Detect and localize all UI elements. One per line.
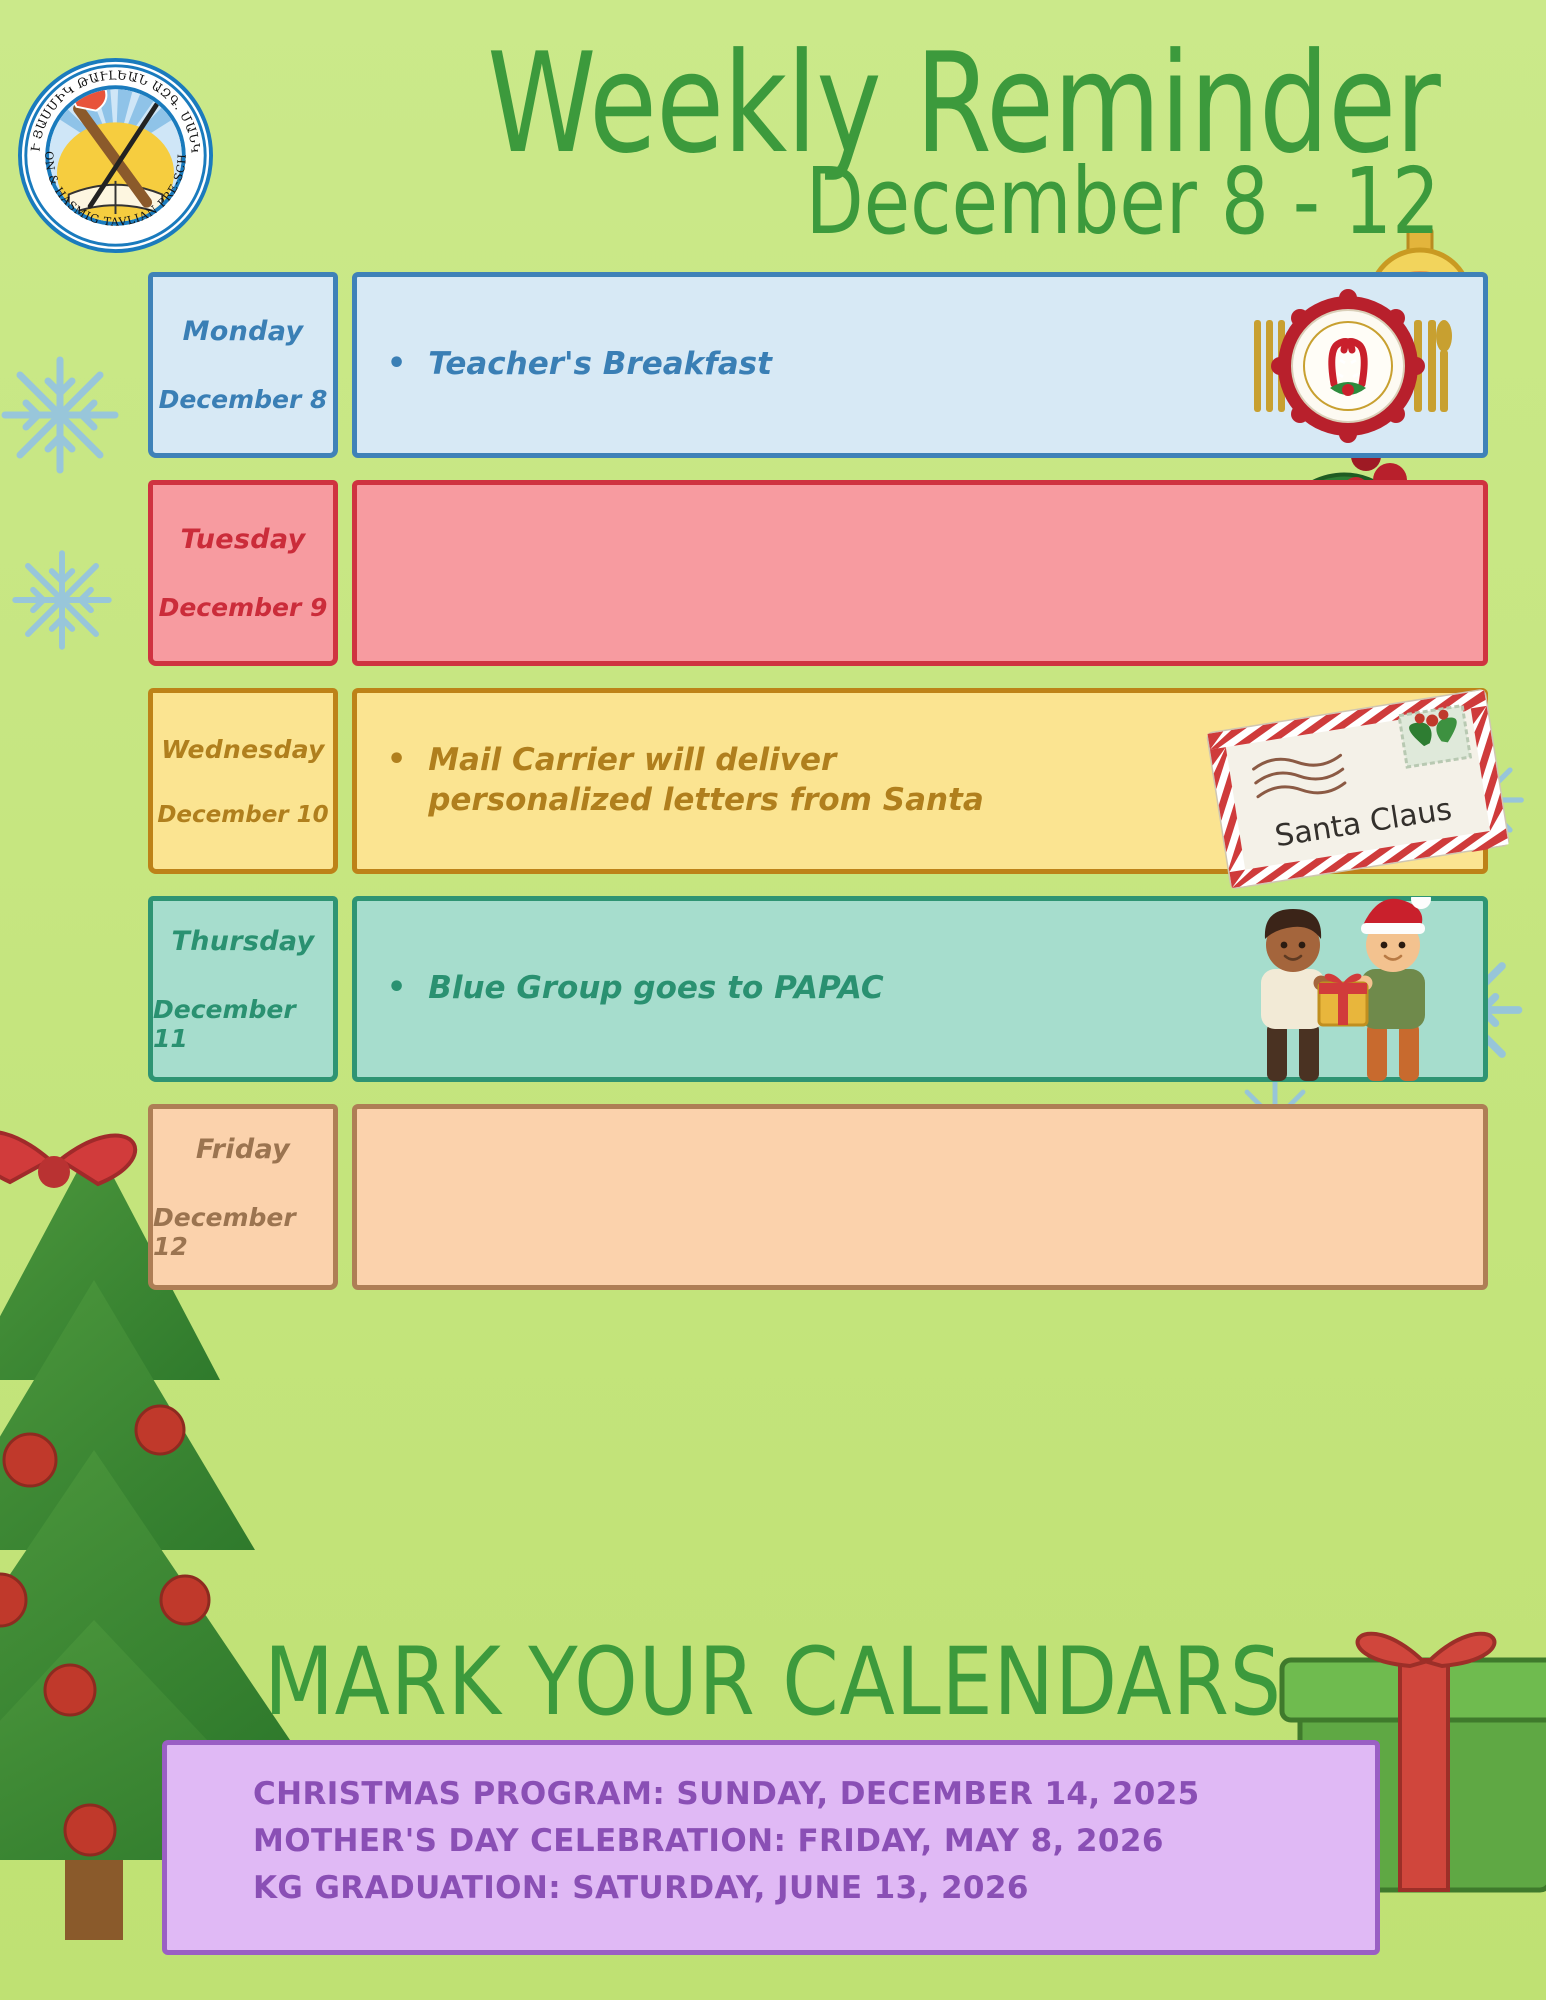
event-text: Teacher's Breakfast — [428, 345, 772, 385]
santa-letter-envelope-icon: Santa Claus — [1203, 669, 1513, 909]
day-name: Thursday — [172, 926, 315, 957]
day-row-friday: Friday December 12 — [0, 1104, 1546, 1298]
envelope-text: Santa Claus — [1273, 792, 1455, 854]
page-subtitle: December 8 - 12 — [423, 158, 1440, 245]
event-text: Blue Group goes to PAPAC — [428, 969, 883, 1009]
day-date: December 9 — [159, 593, 328, 622]
children-exchanging-gift-icon — [1215, 897, 1475, 1087]
day-label-tuesday: Tuesday December 9 — [148, 480, 338, 666]
day-content-tuesday — [352, 480, 1488, 666]
events-box: CHRISTMAS PROGRAM: SUNDAY, DECEMBER 14, … — [162, 1740, 1380, 1955]
poster-header: ԼԵՒՈՆ ԵՒ ՅԱՍՄԻԿ ԹԱՒԼԵԱՆ ԱԶԳ. ՄԱՆԿԱՄՍՈՒՐ … — [0, 0, 1546, 280]
list-item: • Teacher's Breakfast — [387, 345, 772, 385]
day-label-wednesday: Wednesday December 10 — [148, 688, 338, 874]
bullet-icon: • — [387, 741, 406, 779]
event-list: • Blue Group goes to PAPAC — [387, 969, 884, 1009]
day-name: Wednesday — [161, 735, 324, 764]
list-item: • Mail Carrier will deliver personalized… — [387, 741, 984, 820]
event-line: KG GRADUATION: SATURDAY, JUNE 13, 2026 — [253, 1865, 1375, 1912]
day-content-thursday: • Blue Group goes to PAPAC — [352, 896, 1488, 1082]
day-content-wednesday: • Mail Carrier will deliver personalized… — [352, 688, 1488, 874]
bullet-icon: • — [387, 969, 406, 1007]
day-name: Monday — [183, 316, 304, 347]
day-date: December 12 — [153, 1203, 333, 1261]
day-content-monday: • Teacher's Breakfast — [352, 272, 1488, 458]
day-name: Friday — [196, 1134, 290, 1165]
list-item: • Blue Group goes to PAPAC — [387, 969, 884, 1009]
day-label-monday: Monday December 8 — [148, 272, 338, 458]
week-rows: Monday December 8 • Teacher's Breakfast — [0, 272, 1546, 1312]
day-row-thursday: Thursday December 11 • Blue Group goes t… — [0, 896, 1546, 1090]
event-line: MOTHER'S DAY CELEBRATION: FRIDAY, MAY 8,… — [253, 1818, 1375, 1865]
day-label-thursday: Thursday December 11 — [148, 896, 338, 1082]
event-list: • Mail Carrier will deliver personalized… — [387, 741, 984, 820]
christmas-place-setting-icon — [1223, 271, 1473, 461]
day-row-tuesday: Tuesday December 9 — [0, 480, 1546, 674]
event-list: • Teacher's Breakfast — [387, 345, 772, 385]
day-date: December 8 — [159, 385, 328, 414]
event-line: CHRISTMAS PROGRAM: SUNDAY, DECEMBER 14, … — [253, 1771, 1375, 1818]
day-row-monday: Monday December 8 • Teacher's Breakfast — [0, 272, 1546, 466]
day-date: December 11 — [153, 995, 333, 1053]
day-content-friday — [352, 1104, 1488, 1290]
event-text: Mail Carrier will deliver personalized l… — [428, 741, 984, 820]
mark-your-calendars-heading: MARK YOUR CALENDARS — [108, 1628, 1438, 1737]
title-block: Weekly Reminder December 8 - 12 — [200, 40, 1440, 246]
school-logo: ԼԵՒՈՆ ԵՒ ՅԱՍՄԻԿ ԹԱՒԼԵԱՆ ԱԶԳ. ՄԱՆԿԱՄՍՈՒՐ … — [18, 58, 213, 253]
day-row-wednesday: Wednesday December 10 • Mail Carrier wil… — [0, 688, 1546, 882]
bullet-icon: • — [387, 345, 406, 383]
day-name: Tuesday — [181, 524, 306, 555]
day-date: December 10 — [157, 802, 328, 828]
day-label-friday: Friday December 12 — [148, 1104, 338, 1290]
